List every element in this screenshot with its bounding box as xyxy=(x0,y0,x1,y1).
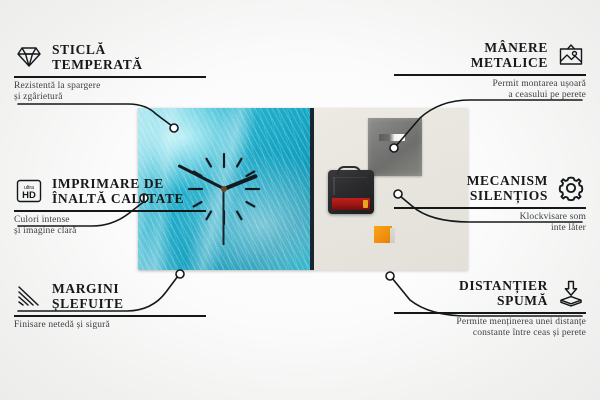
feature-subtitle-line2: și imagine clară xyxy=(14,226,206,238)
feature-divider xyxy=(394,312,586,314)
foam-spacer xyxy=(374,226,392,243)
feature-title-line1: IMPRIMARE DE xyxy=(52,176,184,191)
feature-title-line1: STICLĂ xyxy=(52,42,143,57)
feature-title: MECANISM SILENȚIOS xyxy=(467,173,548,203)
clock-mechanism xyxy=(328,170,374,214)
feature-subtitle-line2: inte låter xyxy=(394,223,586,235)
feature-head: STICLĂ TEMPERATĂ xyxy=(14,42,206,72)
feature-title-line2: SILENȚIOS xyxy=(467,188,548,203)
feature-head: MARGINI ȘLEFUITE xyxy=(14,281,206,311)
feature-divider xyxy=(394,74,586,76)
gear-icon xyxy=(556,173,586,203)
feature-title: MÂNERE METALICE xyxy=(471,40,548,70)
feature-subtitle: Finisare netedă și sigură xyxy=(14,320,206,332)
metal-hanger-plate xyxy=(368,118,422,176)
feature-subtitle-line1: Permite menținerea unei distanțe xyxy=(394,317,586,329)
mechanism-loop xyxy=(337,166,361,175)
feature-title: DISTANȚIER SPUMĂ xyxy=(459,278,548,308)
feature-title-line1: MARGINI xyxy=(52,281,124,296)
feature-callout-print: ultra HD IMPRIMARE DE ÎNALTĂ CALITATE Cu… xyxy=(14,176,206,238)
feature-title: MARGINI ȘLEFUITE xyxy=(52,281,124,311)
feature-title-line1: MÂNERE xyxy=(471,40,548,55)
feature-divider xyxy=(14,315,206,317)
diamond-icon xyxy=(14,42,44,72)
battery xyxy=(332,198,370,210)
svg-text:HD: HD xyxy=(22,190,36,201)
feature-divider xyxy=(14,76,206,78)
hands-center-cap xyxy=(221,186,227,192)
feature-head: MECANISM SILENȚIOS xyxy=(394,173,586,203)
feature-title: STICLĂ TEMPERATĂ xyxy=(52,42,143,72)
feature-title: IMPRIMARE DE ÎNALTĂ CALITATE xyxy=(52,176,184,206)
press-down-pad-icon xyxy=(556,278,586,308)
feature-callout-mechanism: MECANISM SILENȚIOS Klockvisare som inte … xyxy=(394,173,586,235)
feature-title-line2: ÎNALTĂ CALITATE xyxy=(52,191,184,206)
ultra-hd-badge-icon: ultra HD xyxy=(14,176,44,206)
feature-subtitle-line2: constante între ceas și perete xyxy=(394,328,586,340)
feature-subtitle-line1: Rezistentă la spargere xyxy=(14,81,206,93)
feature-callout-glass: STICLĂ TEMPERATĂ Rezistentă la spargere … xyxy=(14,42,206,104)
feature-title-line2: SPUMĂ xyxy=(459,293,548,308)
feature-subtitle: Permite menținerea unei distanțe constan… xyxy=(394,317,586,340)
infographic-canvas: STICLĂ TEMPERATĂ Rezistentă la spargere … xyxy=(0,0,600,400)
feature-head: ultra HD IMPRIMARE DE ÎNALTĂ CALITATE xyxy=(14,176,206,206)
hanger-slot xyxy=(379,134,405,141)
feature-title-line1: DISTANȚIER xyxy=(459,278,548,293)
feature-title-line2: TEMPERATĂ xyxy=(52,57,143,72)
feature-subtitle-line2: și zgârietură xyxy=(14,92,206,104)
feature-subtitle: Rezistentă la spargere și zgârietură xyxy=(14,81,206,104)
feature-subtitle-line1: Klockvisare som xyxy=(394,212,586,224)
connector-dot-edges xyxy=(176,270,184,278)
feature-subtitle: Culori intense și imagine clară xyxy=(14,215,206,238)
feature-subtitle-line1: Culori intense xyxy=(14,215,206,227)
feature-divider xyxy=(14,210,206,212)
connector-dot-spacer xyxy=(386,272,394,280)
feature-subtitle-line1: Permit montarea ușoară xyxy=(394,79,586,91)
feature-callout-handles: MÂNERE METALICE Permit montarea ușoară a… xyxy=(394,40,586,102)
feature-title-line2: METALICE xyxy=(471,55,548,70)
mechanism-texture xyxy=(333,177,367,195)
feature-subtitle: Klockvisare som inte låter xyxy=(394,212,586,235)
feature-title-line1: MECANISM xyxy=(467,173,548,188)
feature-head: DISTANȚIER SPUMĂ xyxy=(394,278,586,308)
feature-callout-edges: MARGINI ȘLEFUITE Finisare netedă și sigu… xyxy=(14,281,206,331)
feature-subtitle: Permit montarea ușoară a ceasului pe per… xyxy=(394,79,586,102)
feature-subtitle-line2: a ceasului pe perete xyxy=(394,90,586,102)
polished-edge-icon xyxy=(14,281,44,311)
framed-picture-icon xyxy=(556,40,586,70)
feature-subtitle-line1: Finisare netedă și sigură xyxy=(14,320,206,332)
feature-title-line2: ȘLEFUITE xyxy=(52,296,124,311)
feature-head: MÂNERE METALICE xyxy=(394,40,586,70)
feature-divider xyxy=(394,207,586,209)
feature-callout-spacer: DISTANȚIER SPUMĂ Permite menținerea unei… xyxy=(394,278,586,340)
